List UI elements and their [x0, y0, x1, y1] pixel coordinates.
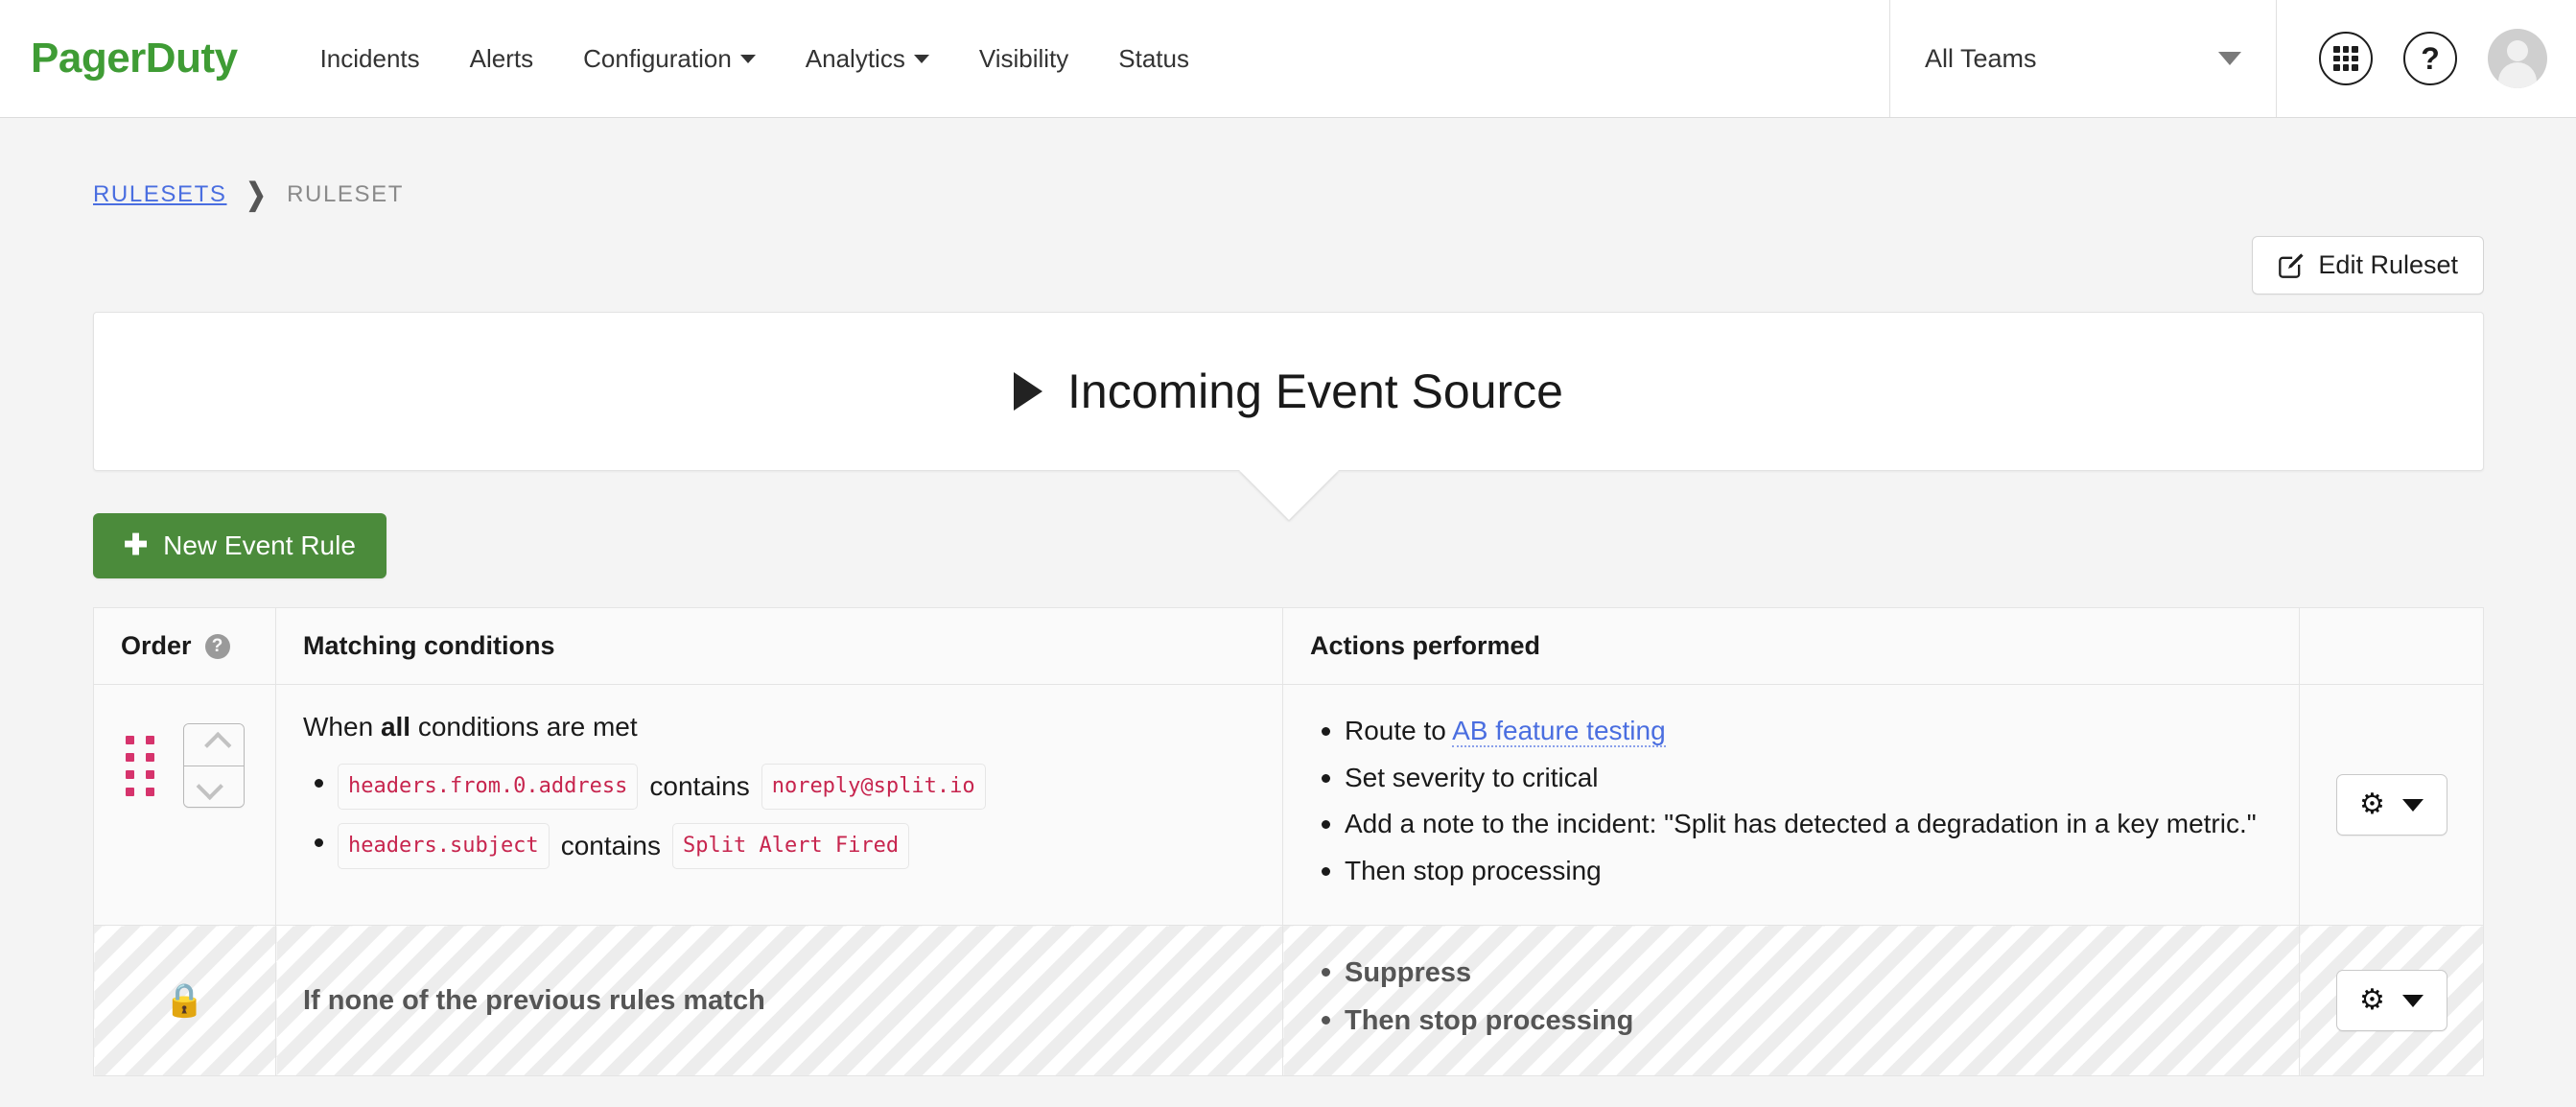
breadcrumb: RULESETS ❯ RULESET	[0, 118, 2576, 209]
nav-item-visibility[interactable]: Visibility	[954, 44, 1093, 74]
table-header-row: Order ? Matching conditions Actions perf…	[94, 608, 2484, 685]
chevron-down-icon	[740, 55, 756, 63]
list-item: Then stop processing	[1345, 852, 2272, 891]
help-button[interactable]: ?	[2403, 32, 2457, 85]
edit-ruleset-button[interactable]: Edit Ruleset	[2252, 236, 2484, 294]
column-header-order: Order ?	[94, 608, 276, 685]
team-selector-value: All Teams	[1925, 44, 2037, 74]
default-actions-list: Suppress Then stop processing	[1310, 953, 2272, 1041]
chevron-right-icon: ❯	[246, 177, 269, 213]
caret-down-icon	[2402, 799, 2424, 812]
triangle-right-icon	[1014, 372, 1042, 411]
event-source-banner-wrapper: Incoming Event Source	[0, 312, 2576, 471]
default-rule-settings-menu-button[interactable]: ⚙	[2336, 970, 2447, 1031]
apps-grid-button[interactable]	[2319, 32, 2373, 85]
move-rule-up-button[interactable]	[184, 724, 244, 765]
condition-field: headers.subject	[338, 823, 550, 869]
event-rules-table: Order ? Matching conditions Actions perf…	[93, 607, 2484, 1076]
nav-item-status[interactable]: Status	[1093, 44, 1214, 74]
row-menu-cell: ⚙	[2300, 685, 2484, 926]
nav-item-incidents[interactable]: Incidents	[295, 44, 445, 74]
default-rule-label-cell: If none of the previous rules match	[276, 926, 1283, 1076]
default-actions-cell: Suppress Then stop processing	[1283, 926, 2300, 1076]
conditions-list: headers.from.0.address contains noreply@…	[303, 764, 1255, 869]
chevron-down-icon	[914, 55, 929, 63]
column-header-actions-performed: Actions performed	[1283, 608, 2300, 685]
locked-order-cell: 🔒	[94, 926, 276, 1076]
chevron-down-icon	[196, 773, 222, 800]
plus-icon: ✚	[124, 531, 148, 560]
new-event-rule-label: New Event Rule	[163, 530, 356, 561]
banner-title: Incoming Event Source	[1067, 364, 1563, 419]
team-selector-dropdown[interactable]: All Teams	[1889, 0, 2277, 117]
grid-apps-icon	[2333, 46, 2358, 71]
column-header-order-label: Order	[121, 631, 192, 661]
question-mark-icon: ?	[2421, 43, 2440, 74]
new-rule-wrapper: ✚ New Event Rule	[0, 513, 2576, 578]
nav-item-alerts[interactable]: Alerts	[445, 44, 558, 74]
condition-value: Split Alert Fired	[672, 823, 909, 869]
nav-item-label: Configuration	[583, 44, 732, 74]
action-link-service[interactable]: AB feature testing	[1452, 716, 1666, 747]
list-item: Suppress	[1345, 953, 2272, 993]
gear-icon: ⚙	[2359, 790, 2385, 819]
table-head: Order ? Matching conditions Actions perf…	[94, 608, 2484, 685]
rule-settings-menu-button[interactable]: ⚙	[2336, 774, 2447, 836]
matching-conditions-cell: When all conditions are met headers.from…	[276, 685, 1283, 926]
pagerduty-logo[interactable]: PagerDuty	[31, 35, 238, 82]
order-cell	[94, 685, 276, 926]
list-item: headers.from.0.address contains noreply@…	[338, 764, 1255, 810]
nav-item-label: Alerts	[470, 44, 533, 74]
table-body: When all conditions are met headers.from…	[94, 685, 2484, 1076]
list-item: Route to AB feature testing	[1345, 712, 2272, 751]
breadcrumb-link-rulesets[interactable]: RULESETS	[93, 181, 227, 208]
condition-operator: contains	[561, 827, 661, 866]
condition-operator: contains	[649, 767, 749, 807]
nav-right-group: ?	[2277, 0, 2576, 117]
nav-item-configuration[interactable]: Configuration	[558, 44, 781, 74]
nav-item-label: Incidents	[320, 44, 420, 74]
avatar[interactable]	[2488, 29, 2547, 88]
pencil-square-icon	[2278, 252, 2305, 279]
condition-field: headers.from.0.address	[338, 764, 638, 810]
list-item: Then stop processing	[1345, 1001, 2272, 1041]
nav-item-label: Visibility	[979, 44, 1068, 74]
top-navigation-bar: PagerDuty Incidents Alerts Configuration…	[0, 0, 2576, 118]
list-item: Add a note to the incident: "Split has d…	[1345, 805, 2272, 844]
when-emphasis: all	[381, 712, 410, 742]
move-rule-down-button[interactable]	[184, 765, 244, 807]
when-prefix: When	[303, 712, 381, 742]
caret-down-icon	[2402, 995, 2424, 1007]
question-help-icon[interactable]: ?	[205, 634, 230, 659]
condition-value: noreply@split.io	[761, 764, 986, 810]
order-stepper	[183, 723, 245, 808]
gear-icon: ⚙	[2359, 986, 2385, 1015]
breadcrumb-current-ruleset: RULESET	[287, 181, 404, 208]
chevron-down-icon	[2218, 52, 2241, 65]
lock-icon: 🔒	[164, 982, 204, 1019]
nav-item-label: Status	[1118, 44, 1189, 74]
when-conditions-line: When all conditions are met	[303, 712, 1255, 742]
banner-pointer-tail	[1239, 470, 1339, 520]
table-row: 🔒 If none of the previous rules match Su…	[94, 926, 2484, 1076]
primary-nav-items: Incidents Alerts Configuration Analytics…	[295, 44, 1214, 74]
default-rule-label: If none of the previous rules match	[303, 953, 1255, 1048]
nav-left-group: PagerDuty Incidents Alerts Configuration…	[0, 0, 1889, 117]
drag-handle-icon[interactable]	[126, 736, 154, 796]
new-event-rule-button[interactable]: ✚ New Event Rule	[93, 513, 386, 578]
page-content: RULESETS ❯ RULESET Edit Ruleset Incoming…	[0, 118, 2576, 1076]
rules-table-wrapper: Order ? Matching conditions Actions perf…	[0, 607, 2576, 1076]
list-item: headers.subject contains Split Alert Fir…	[338, 823, 1255, 869]
banner-toggle[interactable]: Incoming Event Source	[1014, 364, 1563, 419]
edit-ruleset-label: Edit Ruleset	[2318, 250, 2458, 280]
toolbar-row: Edit Ruleset	[0, 236, 2576, 294]
actions-list: Route to AB feature testing Set severity…	[1310, 712, 2272, 890]
action-text: Route to	[1345, 716, 1452, 745]
table-row: When all conditions are met headers.from…	[94, 685, 2484, 926]
nav-item-label: Analytics	[806, 44, 905, 74]
column-header-menu	[2300, 608, 2484, 685]
default-row-menu-cell: ⚙	[2300, 926, 2484, 1076]
chevron-up-icon	[204, 731, 231, 758]
nav-item-analytics[interactable]: Analytics	[781, 44, 954, 74]
when-suffix: conditions are met	[410, 712, 638, 742]
column-header-matching-conditions: Matching conditions	[276, 608, 1283, 685]
actions-performed-cell: Route to AB feature testing Set severity…	[1283, 685, 2300, 926]
incoming-event-source-banner[interactable]: Incoming Event Source	[93, 312, 2484, 471]
list-item: Set severity to critical	[1345, 759, 2272, 798]
